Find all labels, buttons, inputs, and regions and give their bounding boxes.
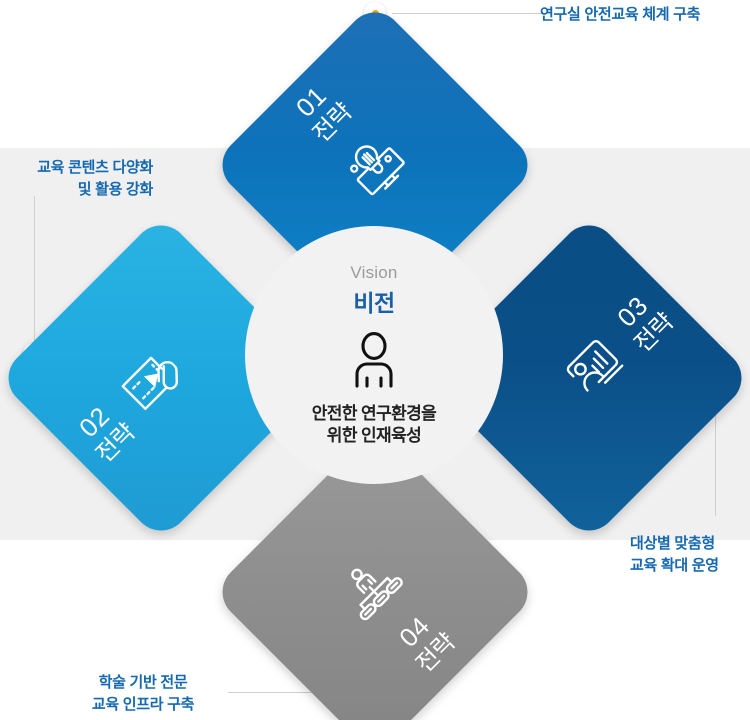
vision-center-circle[interactable]: Vision 비전 안전한 연구환경을 위한 인재육성 (245, 226, 503, 484)
callout-strategy-03-line1: 대상별 맞춤형 (630, 533, 750, 555)
video-attachment-icon (113, 343, 196, 426)
presentation-chart-person-icon (554, 330, 637, 413)
infographic-canvas: 연구실 안전교육 체계 구축 교육 콘텐츠 다양화 및 활용 강화 대상별 맞춤… (0, 0, 750, 720)
connector-line-strategy-01 (392, 13, 542, 14)
callout-strategy-01: 연구실 안전교육 체계 구축 (540, 4, 700, 26)
org-chart-icon (330, 547, 413, 630)
vision-label-en: Vision (350, 263, 397, 283)
callout-strategy-04-line2: 교육 인프라 구축 (78, 694, 208, 716)
callout-strategy-03-line2: 교육 확대 운영 (630, 555, 750, 577)
monitor-lightbulb-icon (334, 124, 422, 212)
callout-strategy-02-line2: 및 활용 강화 (0, 179, 153, 201)
vision-description-line2: 위한 인재육성 (312, 425, 436, 447)
vision-label-ko: 비전 (353, 284, 394, 318)
callout-strategy-03: 대상별 맞춤형 교육 확대 운영 (630, 533, 750, 577)
callout-strategy-02: 교육 콘텐츠 다양화 및 활용 강화 (0, 157, 153, 201)
callout-strategy-04: 학술 기반 전문 교육 인프라 구축 (78, 672, 208, 716)
vision-description: 안전한 연구환경을 위한 인재육성 (312, 403, 436, 448)
callout-strategy-01-line1: 연구실 안전교육 체계 구축 (540, 4, 700, 26)
callout-strategy-04-line1: 학술 기반 전문 (78, 672, 208, 694)
person-icon (348, 331, 400, 394)
vision-description-line1: 안전한 연구환경을 (312, 403, 436, 425)
callout-strategy-02-line1: 교육 콘텐츠 다양화 (0, 157, 153, 179)
connector-line-strategy-02 (34, 196, 35, 348)
